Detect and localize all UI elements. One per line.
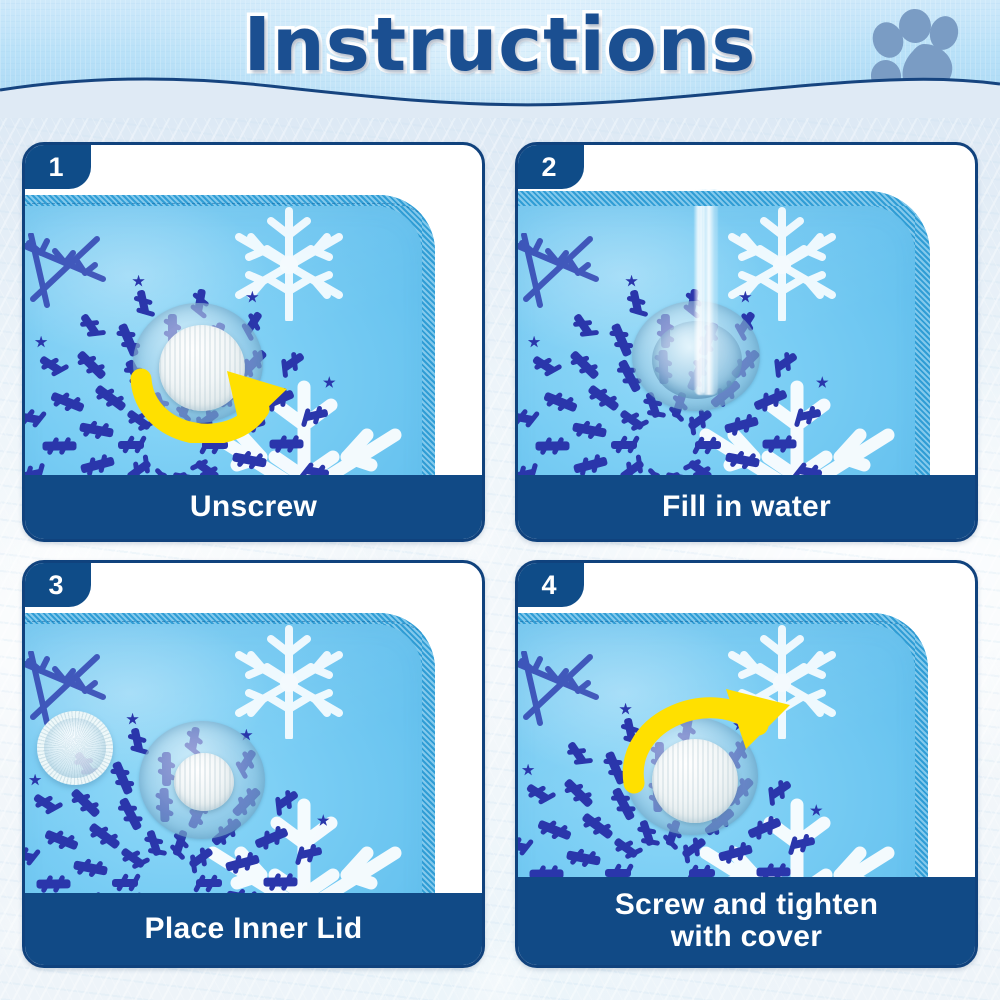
pattern-leaf bbox=[44, 830, 79, 851]
pattern-leaf bbox=[797, 465, 822, 475]
pattern-leaf bbox=[757, 867, 791, 876]
cooling-mat-4 bbox=[518, 613, 928, 877]
pattern-leaf bbox=[36, 879, 70, 888]
pattern-leaf bbox=[566, 850, 601, 865]
pattern-leaf bbox=[695, 441, 721, 449]
step-card-3[interactable]: 3 bbox=[22, 560, 485, 968]
pattern-leaf bbox=[535, 441, 569, 450]
photo-whitespace-2 bbox=[933, 189, 975, 475]
step-card-4[interactable]: 4 bbox=[515, 560, 978, 968]
pattern-leaf bbox=[25, 850, 36, 862]
pattern-leaf bbox=[38, 356, 62, 376]
step-photo-3 bbox=[25, 607, 482, 893]
pattern-leaf bbox=[194, 459, 220, 475]
photo-whitespace-4 bbox=[933, 607, 975, 877]
pattern-leaf bbox=[264, 877, 298, 886]
pattern-leaf bbox=[567, 741, 587, 765]
pattern-leaf bbox=[529, 869, 563, 877]
rotate-arrow-icon-4 bbox=[618, 677, 798, 797]
pattern-leaf bbox=[119, 797, 143, 831]
pattern-leaf bbox=[724, 417, 759, 434]
step-number-badge-1: 1 bbox=[25, 145, 91, 189]
step-caption-4: Screw and tighten with cover bbox=[518, 877, 975, 965]
pattern-leaf bbox=[718, 845, 753, 862]
pattern-leaf bbox=[681, 837, 707, 859]
pattern-leaf bbox=[232, 452, 267, 467]
pattern-leaf bbox=[587, 385, 620, 413]
pattern-star bbox=[29, 774, 42, 787]
pattern-leaf bbox=[611, 323, 633, 358]
pattern-leaf bbox=[88, 823, 121, 851]
step-caption-3: Place Inner Lid bbox=[25, 893, 482, 965]
step-number-badge-3: 3 bbox=[25, 563, 91, 607]
photo-whitespace-3 bbox=[440, 607, 482, 893]
pattern-leaf bbox=[573, 313, 593, 337]
pattern-leaf bbox=[112, 879, 138, 887]
rotate-arrow-icon-1 bbox=[125, 313, 295, 443]
inner-lid-3 bbox=[174, 753, 234, 811]
pattern-leaf bbox=[255, 828, 290, 850]
pattern-leaf bbox=[689, 869, 715, 877]
step-caption-2: Fill in water bbox=[518, 475, 975, 539]
pattern-leaf bbox=[569, 350, 600, 380]
step-photo-4 bbox=[518, 607, 975, 877]
page-title: Instructions bbox=[0, 8, 1000, 82]
step-caption-1: Unscrew bbox=[25, 475, 482, 539]
pattern-leaf bbox=[50, 392, 85, 413]
photo-whitespace-1 bbox=[440, 189, 482, 475]
pattern-leaf bbox=[754, 390, 789, 412]
pattern-leaf bbox=[613, 837, 639, 859]
step-card-2[interactable]: 2 bbox=[515, 142, 978, 542]
pattern-leaf bbox=[275, 790, 299, 810]
pattern-leaf bbox=[687, 409, 713, 431]
step-caption-4-line-1: Screw and tighten bbox=[615, 888, 878, 921]
pattern-leaf bbox=[42, 441, 76, 450]
pattern-leaf bbox=[611, 441, 637, 449]
pattern-leaf bbox=[304, 465, 329, 475]
pattern-leaf bbox=[196, 879, 222, 887]
outer-screw-cap-ribs-3 bbox=[37, 711, 113, 785]
pattern-leaf bbox=[763, 439, 797, 448]
header-banner: Instructions bbox=[0, 0, 1000, 118]
pattern-leaf bbox=[518, 840, 529, 852]
pattern-leaf bbox=[543, 392, 578, 413]
step-caption-4-line-2: with cover bbox=[671, 920, 822, 953]
pattern-leaf bbox=[25, 412, 42, 424]
step-photo-2 bbox=[518, 189, 975, 475]
pattern-star bbox=[522, 764, 535, 777]
pattern-leaf bbox=[537, 820, 572, 841]
pattern-leaf bbox=[79, 422, 114, 437]
pattern-leaf bbox=[188, 847, 214, 869]
pattern-star bbox=[528, 336, 541, 349]
pattern-leaf bbox=[573, 456, 608, 473]
outer-screw-cap-3 bbox=[37, 711, 113, 785]
snowflake-graphic-corner-4 bbox=[518, 651, 610, 731]
snowflake-graphic-top-3 bbox=[189, 619, 389, 739]
pattern-leaf bbox=[748, 818, 783, 840]
cooling-mat-2 bbox=[518, 195, 928, 475]
water-stream-highlight-2 bbox=[700, 189, 706, 393]
pattern-leaf bbox=[572, 422, 607, 437]
pattern-star bbox=[35, 336, 48, 349]
pattern-leaf bbox=[112, 761, 134, 796]
step-photo-1 bbox=[25, 189, 482, 475]
step-card-1[interactable]: 1 bbox=[22, 142, 485, 542]
pattern-leaf bbox=[80, 313, 100, 337]
pattern-leaf bbox=[531, 356, 555, 376]
pattern-leaf bbox=[605, 869, 631, 877]
pattern-leaf bbox=[518, 412, 535, 424]
pattern-leaf bbox=[76, 350, 107, 380]
pattern-leaf bbox=[73, 860, 108, 875]
pattern-leaf bbox=[146, 829, 162, 856]
pattern-leaf bbox=[120, 847, 146, 869]
cooling-mat-3 bbox=[25, 613, 435, 893]
inner-lid-ribs-3 bbox=[174, 753, 234, 811]
water-stream-2 bbox=[694, 189, 718, 395]
steps-grid: 1 bbox=[22, 142, 978, 980]
pattern-leaf bbox=[525, 784, 549, 804]
pattern-leaf bbox=[32, 794, 56, 814]
step-number-badge-4: 4 bbox=[518, 563, 584, 607]
step-number-badge-2: 2 bbox=[518, 145, 584, 189]
pattern-leaf bbox=[563, 778, 594, 808]
pattern-leaf bbox=[619, 409, 645, 431]
pattern-leaf bbox=[126, 459, 152, 475]
cooling-mat-1 bbox=[25, 195, 435, 475]
pattern-leaf bbox=[70, 788, 101, 818]
pattern-leaf bbox=[80, 456, 115, 473]
header-wave-divider bbox=[0, 74, 1000, 118]
pattern-leaf bbox=[581, 813, 614, 841]
pattern-leaf bbox=[774, 352, 798, 372]
pattern-leaf bbox=[725, 452, 760, 467]
pattern-leaf bbox=[94, 385, 127, 413]
pattern-leaf bbox=[619, 459, 645, 475]
pattern-leaf bbox=[225, 855, 260, 872]
pattern-leaf bbox=[687, 459, 713, 475]
